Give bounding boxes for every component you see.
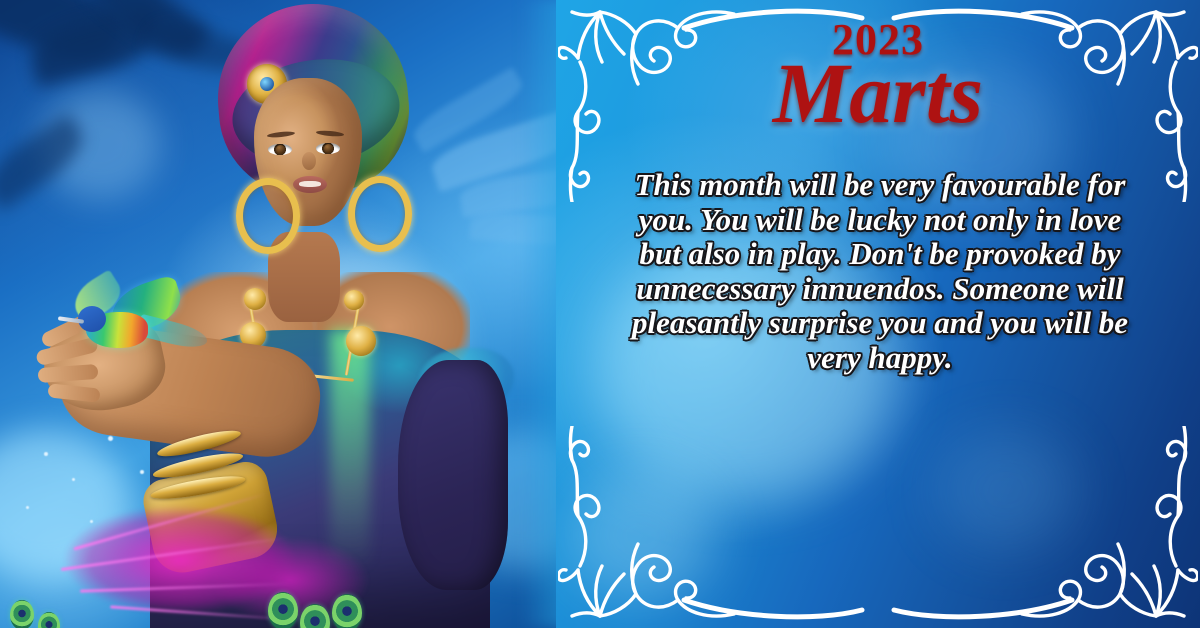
sparkle bbox=[26, 506, 29, 509]
peacock-eye bbox=[38, 612, 60, 628]
bottom-divider-ornament bbox=[676, 592, 1080, 626]
sparkle bbox=[90, 520, 93, 523]
corner-flourish-bottom-left-icon bbox=[558, 426, 738, 626]
eye bbox=[316, 143, 340, 154]
sparkle bbox=[44, 452, 48, 456]
panel-glow bbox=[936, 430, 1076, 550]
necklace-disc bbox=[346, 326, 376, 356]
peacock-eye bbox=[10, 600, 34, 628]
forecast-text: This month will be very favourable for y… bbox=[630, 168, 1130, 375]
peacock-eye bbox=[332, 594, 362, 628]
nose bbox=[302, 152, 316, 170]
earring-left bbox=[236, 178, 300, 254]
fortune-teller-figure bbox=[0, 0, 600, 628]
lips bbox=[293, 176, 327, 193]
necklace-disc bbox=[344, 290, 364, 310]
illustration-panel bbox=[0, 0, 600, 628]
month-title: Marts bbox=[556, 50, 1200, 136]
peacock-eye bbox=[268, 592, 298, 628]
sparkle bbox=[140, 470, 144, 474]
sparkle bbox=[72, 478, 75, 481]
panel-glow bbox=[566, 470, 716, 600]
eye bbox=[268, 144, 292, 155]
forecast-panel: 2023 Marts This month will be very favou… bbox=[556, 0, 1200, 628]
horoscope-banner: 2023 Marts This month will be very favou… bbox=[0, 0, 1200, 628]
corner-flourish-bottom-right-icon bbox=[1018, 426, 1198, 626]
necklace-disc bbox=[244, 288, 266, 310]
earring-right bbox=[348, 176, 412, 252]
hummingbird-icon bbox=[56, 278, 186, 370]
sleeve bbox=[398, 360, 508, 590]
sparkle bbox=[108, 436, 113, 441]
